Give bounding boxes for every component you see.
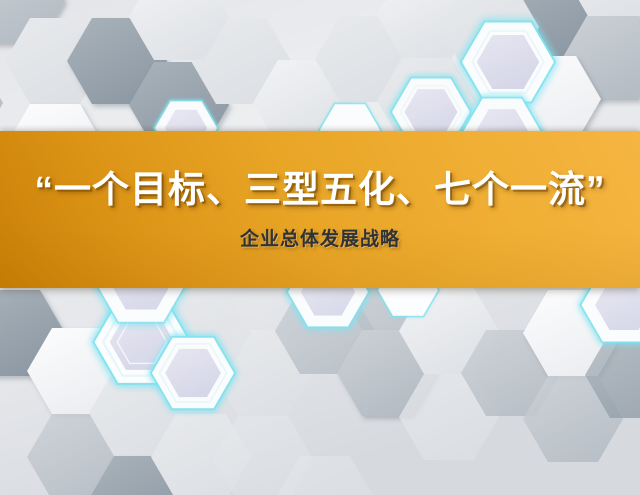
slide-canvas: “一个目标、三型五化、七个一流” 企业总体发展战略 bbox=[0, 0, 640, 495]
page-title: “一个目标、三型五化、七个一流” bbox=[35, 171, 606, 208]
title-banner: “一个目标、三型五化、七个一流” 企业总体发展战略 bbox=[0, 131, 640, 288]
page-subtitle: 企业总体发展战略 bbox=[240, 230, 400, 249]
